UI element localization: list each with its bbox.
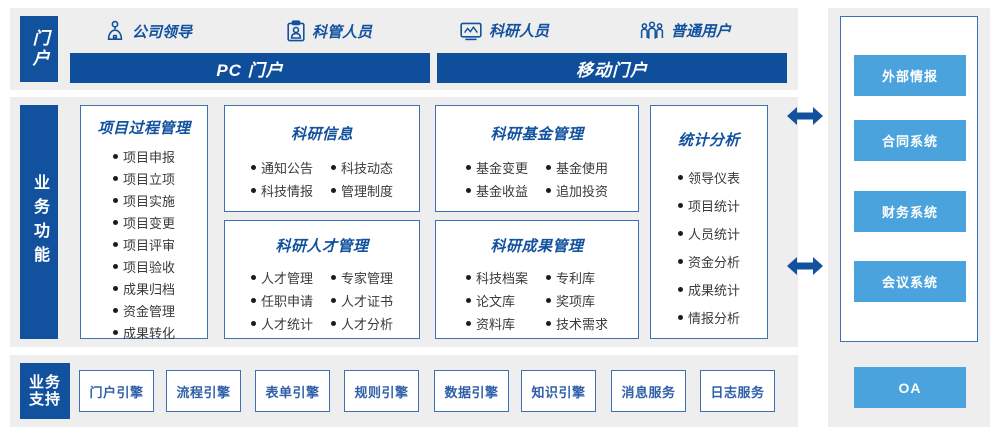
support-chip-process-engine[interactable]: 流程引擎 [166, 370, 241, 412]
support-chip-label: 知识引擎 [531, 382, 585, 401]
list-item-label: 任职申请 [261, 291, 313, 310]
list-item-label: 项目实施 [123, 191, 175, 210]
list-item-label: 科技档案 [476, 268, 528, 287]
bullet-dot [113, 286, 118, 291]
list-item[interactable]: 专利库 [546, 268, 608, 287]
module-title-research-fund: 科研基金管理 [436, 123, 638, 144]
external-system-oa[interactable]: OA [854, 367, 966, 408]
list-item[interactable]: 任职申请 [251, 291, 313, 310]
list-item[interactable]: 成果归档 [113, 279, 175, 298]
portal-bar-mobile[interactable]: 移动门户 [437, 53, 787, 83]
bullet-dot [331, 188, 336, 193]
list-item-label: 成果转化 [123, 323, 175, 342]
external-system-label: 外部情报 [882, 66, 938, 85]
rail-business-function-label: 业务功能 [29, 174, 49, 270]
support-chip-portal-engine[interactable]: 门户引擎 [79, 370, 154, 412]
list-item[interactable]: 奖项库 [546, 291, 608, 310]
list-item-label: 资金管理 [123, 301, 175, 320]
list-item[interactable]: 基金使用 [546, 158, 608, 177]
support-chip-message-service[interactable]: 消息服务 [611, 370, 686, 412]
list-item[interactable]: 人员统计 [678, 224, 740, 243]
bullet-dot [678, 231, 683, 236]
integration-arrow-bottom [786, 254, 824, 283]
bullet-dot [113, 154, 118, 159]
list-item[interactable]: 资金管理 [113, 301, 175, 320]
bullet-dot [251, 275, 256, 280]
bullet-dot [113, 264, 118, 269]
rail-business-support: 业务支持 [20, 363, 70, 419]
support-chip-label: 数据引擎 [444, 382, 498, 401]
list-item-label: 资料库 [476, 314, 515, 333]
support-chip-log-service[interactable]: 日志服务 [700, 370, 775, 412]
list-item-label: 成果统计 [688, 280, 740, 299]
support-chip-data-engine[interactable]: 数据引擎 [434, 370, 509, 412]
list-item-label: 人员统计 [688, 224, 740, 243]
rail-portal-label: 门户 [28, 29, 49, 69]
list-item[interactable]: 科技情报 [251, 181, 313, 200]
portal-bar-pc-label: PC 门户 [216, 56, 283, 81]
support-chip-label: 表单引擎 [265, 382, 319, 401]
list-item[interactable]: 项目统计 [678, 196, 740, 215]
module-items-research-fund: 基金变更 基金使用 基金收益 追加投资 [436, 158, 638, 200]
module-title-statistics: 统计分析 [651, 129, 767, 150]
list-item[interactable]: 资金分析 [678, 252, 740, 271]
list-item-label: 项目申报 [123, 147, 175, 166]
bullet-dot [466, 165, 471, 170]
module-card-project-process[interactable]: 项目过程管理 项目申报 项目立项 项目实施 项目变更 项目评审 项目验收 成果归… [80, 105, 208, 339]
list-item-label: 专利库 [556, 268, 595, 287]
bullet-dot [113, 242, 118, 247]
bullet-dot [331, 165, 336, 170]
portal-bar-pc[interactable]: PC 门户 [70, 53, 430, 83]
bullet-dot [466, 188, 471, 193]
list-item[interactable]: 管理制度 [331, 181, 393, 200]
list-item-label: 科技动态 [341, 158, 393, 177]
bullet-dot [113, 330, 118, 335]
bullet-dot [678, 175, 683, 180]
module-items-research-output: 科技档案 专利库 论文库 奖项库 资料库 技术需求 [436, 268, 638, 333]
architecture-diagram: 门户 业务功能 业务支持 公司领导 科管人员 [0, 0, 1000, 436]
module-card-research-talent[interactable]: 科研人才管理 人才管理 专家管理 任职申请 人才证书 人才统计 人才分析 [224, 220, 420, 339]
double-arrow-icon [786, 104, 824, 128]
list-item-label: 基金使用 [556, 158, 608, 177]
bullet-dot [546, 298, 551, 303]
support-chip-label: 消息服务 [621, 382, 675, 401]
external-system-contract[interactable]: 合同系统 [854, 120, 966, 161]
list-item[interactable]: 资料库 [466, 314, 528, 333]
role-researcher-label: 科研人员 [489, 20, 549, 41]
bullet-dot [466, 321, 471, 326]
researcher-icon [460, 21, 482, 41]
bullet-dot [251, 165, 256, 170]
company-leader-icon [105, 20, 125, 42]
list-item-label: 成果归档 [123, 279, 175, 298]
role-general-user[interactable]: 普通用户 [640, 20, 731, 41]
research-admin-icon [287, 20, 305, 42]
list-item-label: 人才分析 [341, 314, 393, 333]
role-research-admin-label: 科管人员 [312, 21, 372, 42]
bullet-dot [251, 321, 256, 326]
list-item-label: 奖项库 [556, 291, 595, 310]
list-item[interactable]: 人才分析 [331, 314, 393, 333]
list-item-label: 通知公告 [261, 158, 313, 177]
support-chip-label: 门户引擎 [89, 382, 143, 401]
list-item-label: 项目评审 [123, 235, 175, 254]
support-chip-label: 流程引擎 [176, 382, 230, 401]
support-chip-label: 日志服务 [710, 382, 764, 401]
module-card-research-info[interactable]: 科研信息 通知公告 科技动态 科技情报 管理制度 [224, 105, 420, 212]
role-researcher[interactable]: 科研人员 [460, 20, 549, 41]
list-item[interactable]: 基金收益 [466, 181, 528, 200]
module-items-research-talent: 人才管理 专家管理 任职申请 人才证书 人才统计 人才分析 [225, 268, 419, 333]
external-system-label: 财务系统 [882, 202, 938, 221]
bullet-dot [113, 220, 118, 225]
external-system-finance[interactable]: 财务系统 [854, 191, 966, 232]
list-item[interactable]: 专家管理 [331, 268, 393, 287]
bullet-dot [113, 198, 118, 203]
list-item-label: 项目验收 [123, 257, 175, 276]
list-item-label: 项目统计 [688, 196, 740, 215]
list-item[interactable]: 人才管理 [251, 268, 313, 287]
list-item-label: 情报分析 [688, 308, 740, 327]
list-item[interactable]: 人才统计 [251, 314, 313, 333]
list-item-label: 追加投资 [556, 181, 608, 200]
list-item[interactable]: 情报分析 [678, 308, 740, 327]
external-system-meeting[interactable]: 会议系统 [854, 261, 966, 302]
list-item-label: 项目立项 [123, 169, 175, 188]
bullet-dot [678, 315, 683, 320]
list-item[interactable]: 成果转化 [113, 323, 175, 342]
role-company-leader-label: 公司领导 [132, 21, 192, 42]
module-items-statistics: 领导仪表 项目统计 人员统计 资金分析 成果统计 情报分析 [651, 168, 767, 327]
list-item-label: 管理制度 [341, 181, 393, 200]
external-system-label: 合同系统 [882, 131, 938, 150]
list-item[interactable]: 追加投资 [546, 181, 608, 200]
list-item-label: 人才管理 [261, 268, 313, 287]
bullet-dot [113, 308, 118, 313]
bullet-dot [678, 259, 683, 264]
list-item-label: 科技情报 [261, 181, 313, 200]
list-item-label: 技术需求 [556, 314, 608, 333]
list-item-label: 基金收益 [476, 181, 528, 200]
bullet-dot [251, 298, 256, 303]
module-items-project-process: 项目申报 项目立项 项目实施 项目变更 项目评审 项目验收 成果归档 资金管理 … [81, 147, 207, 342]
bullet-dot [546, 275, 551, 280]
module-card-research-fund[interactable]: 科研基金管理 基金变更 基金使用 基金收益 追加投资 [435, 105, 639, 212]
module-card-research-output[interactable]: 科研成果管理 科技档案 专利库 论文库 奖项库 资料库 技术需求 [435, 220, 639, 339]
list-item[interactable]: 科技档案 [466, 268, 528, 287]
module-title-research-info: 科研信息 [225, 123, 419, 144]
list-item[interactable]: 科技动态 [331, 158, 393, 177]
list-item[interactable]: 通知公告 [251, 158, 313, 177]
list-item-label: 领导仪表 [688, 168, 740, 187]
bullet-dot [466, 275, 471, 280]
module-card-statistics[interactable]: 统计分析 领导仪表 项目统计 人员统计 资金分析 成果统计 情报分析 [650, 105, 768, 339]
module-title-research-talent: 科研人才管理 [225, 235, 419, 256]
list-item-label: 项目变更 [123, 213, 175, 232]
portal-bar-mobile-label: 移动门户 [576, 56, 648, 81]
list-item[interactable]: 成果统计 [678, 280, 740, 299]
bullet-dot [113, 176, 118, 181]
list-item[interactable]: 项目验收 [113, 257, 175, 276]
support-chip-form-engine[interactable]: 表单引擎 [255, 370, 330, 412]
support-chip-rule-engine[interactable]: 规则引擎 [344, 370, 419, 412]
bullet-dot [331, 275, 336, 280]
list-item-label: 资金分析 [688, 252, 740, 271]
module-items-research-info: 通知公告 科技动态 科技情报 管理制度 [225, 158, 419, 200]
general-user-icon [640, 21, 664, 41]
bullet-dot [331, 298, 336, 303]
list-item[interactable]: 项目实施 [113, 191, 175, 210]
bullet-dot [466, 298, 471, 303]
list-item-label: 人才证书 [341, 291, 393, 310]
list-item[interactable]: 技术需求 [546, 314, 608, 333]
list-item[interactable]: 项目变更 [113, 213, 175, 232]
bullet-dot [678, 287, 683, 292]
double-arrow-icon [786, 254, 824, 278]
bullet-dot [678, 203, 683, 208]
bullet-dot [546, 188, 551, 193]
bullet-dot [546, 165, 551, 170]
list-item-label: 基金变更 [476, 158, 528, 177]
bullet-dot [251, 188, 256, 193]
list-item[interactable]: 论文库 [466, 291, 528, 310]
list-item-label: 专家管理 [341, 268, 393, 287]
list-item[interactable]: 项目立项 [113, 169, 175, 188]
integration-arrow-top [786, 104, 824, 133]
list-item-label: 论文库 [476, 291, 515, 310]
external-system-intelligence[interactable]: 外部情报 [854, 55, 966, 96]
role-company-leader[interactable]: 公司领导 [105, 20, 192, 42]
module-title-research-output: 科研成果管理 [436, 235, 638, 256]
rail-business-support-label: 业务支持 [28, 374, 62, 409]
list-item[interactable]: 项目申报 [113, 147, 175, 166]
external-system-label: 会议系统 [882, 272, 938, 291]
list-item-label: 人才统计 [261, 314, 313, 333]
support-chip-label: 规则引擎 [354, 382, 408, 401]
list-item[interactable]: 领导仪表 [678, 168, 740, 187]
rail-business-function: 业务功能 [20, 105, 58, 339]
bullet-dot [546, 321, 551, 326]
list-item[interactable]: 项目评审 [113, 235, 175, 254]
list-item[interactable]: 人才证书 [331, 291, 393, 310]
support-chip-knowledge-engine[interactable]: 知识引擎 [521, 370, 596, 412]
role-research-admin[interactable]: 科管人员 [287, 20, 372, 42]
external-system-oa-label: OA [899, 380, 922, 396]
rail-portal: 门户 [20, 16, 58, 82]
role-general-user-label: 普通用户 [671, 20, 731, 41]
module-title-project-process: 项目过程管理 [81, 117, 207, 138]
bullet-dot [331, 321, 336, 326]
list-item[interactable]: 基金变更 [466, 158, 528, 177]
